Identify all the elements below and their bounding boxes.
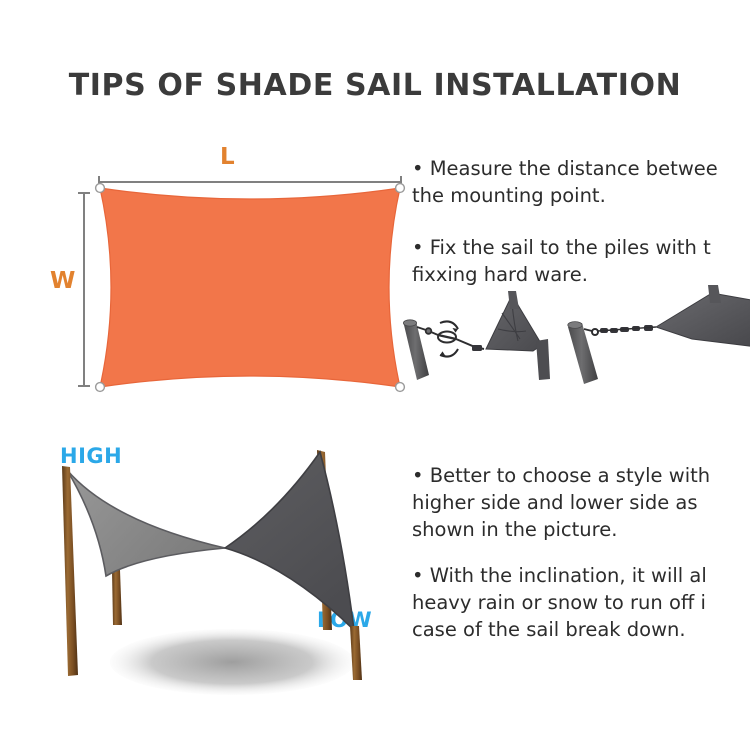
post-mid-left [112, 570, 122, 625]
tip-4-line-3: case of the sail break down. [412, 616, 707, 643]
orange-sail-shape [90, 180, 410, 395]
tip-1-line-1: • Measure the distance betwee [412, 155, 718, 182]
tip-item-2: • Fix the sail to the piles with t fixxi… [412, 234, 711, 288]
vertical-dimension-line [78, 192, 89, 387]
tip-1-line-2: the mounting point. [412, 182, 718, 209]
sail-corner-panel [656, 293, 750, 347]
page-title: TIPS OF SHADE SAIL INSTALLATION [0, 68, 750, 103]
dimension-cap-top [78, 192, 90, 194]
post-low-right [350, 626, 362, 680]
tip-3-line-3: shown in the picture. [412, 516, 710, 543]
rear-post-right [536, 339, 550, 380]
sail-panel-dark [225, 452, 354, 630]
inclined-sail-scene: HIGH LOW [20, 430, 420, 730]
hardware-illustration-turnbuckle [400, 283, 575, 393]
ground-shadow [110, 629, 354, 695]
turnbuckle [438, 321, 458, 356]
hardware-illustration-chain [562, 283, 750, 393]
tip-item-3: • Better to choose a style with higher s… [412, 462, 710, 543]
sail-fabric [100, 188, 400, 387]
tip-3-line-2: higher side and lower side as [412, 489, 710, 516]
sail-scene-svg [20, 430, 420, 730]
tip-3-line-1: • Better to choose a style with [412, 462, 710, 489]
tip-4-line-2: heavy rain or snow to run off i [412, 589, 707, 616]
tip-4-line-1: • With the inclination, it will al [412, 562, 707, 589]
infographic-page: TIPS OF SHADE SAIL INSTALLATION L W • Me… [0, 0, 750, 750]
dimension-cap-bottom [78, 385, 90, 387]
dimension-label-length: L [220, 144, 235, 170]
dimension-label-width: W [50, 268, 75, 294]
mounting-post [568, 322, 598, 384]
shackle-hardware [417, 327, 438, 335]
rear-post-top [708, 285, 721, 303]
post-high-left [62, 466, 78, 676]
d-ring [472, 345, 482, 351]
tip-item-1: • Measure the distance betwee the mounti… [412, 155, 718, 209]
dimension-bar [83, 192, 85, 387]
grommet-bottom-left [96, 383, 105, 392]
snap-hook [584, 329, 598, 335]
tip-item-4: • With the inclination, it will al heavy… [412, 562, 707, 643]
rectangular-sail-diagram: L W [40, 140, 400, 400]
grommet-top-right [396, 184, 405, 193]
tip-2-line-1: • Fix the sail to the piles with t [412, 234, 711, 261]
sail-panel-light [67, 470, 225, 576]
grommet-top-left [96, 184, 105, 193]
